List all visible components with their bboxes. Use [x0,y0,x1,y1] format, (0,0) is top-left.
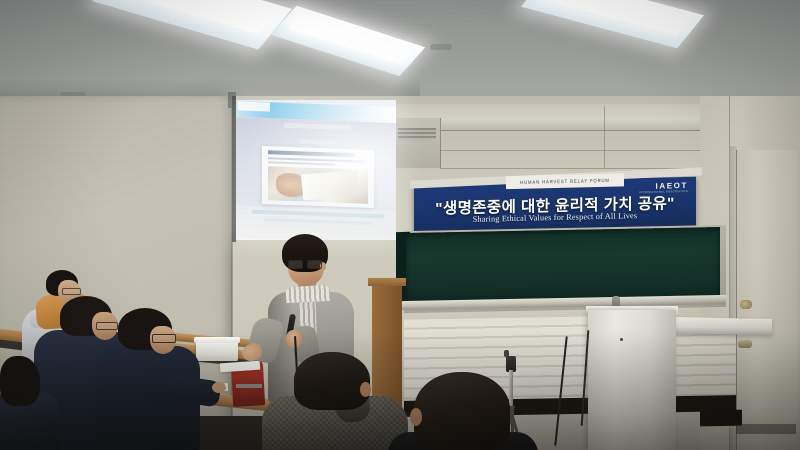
banner-forum-tab-text: HUMAN HARVEST RELAY FORUM [520,177,610,185]
attendee-tweed-ear [360,382,371,397]
podium-side-shelf [672,317,772,335]
projected-card-subtitle-2 [268,161,335,165]
door-bottom-shadow [736,424,796,434]
wall-vertical-seam-1 [604,106,605,168]
chalkboard [406,227,720,303]
projected-content-card [262,146,374,208]
lecture-hall-photo: HUMAN HARVEST RELAY FORUM IAEOT INTERNAT… [0,0,800,450]
attendee-front-hair [414,372,510,450]
projection-screen [236,100,396,240]
banner-forum-tab: HUMAN HARVEST RELAY FORUM [506,173,624,189]
student-navy-1-glasses-icon [96,322,118,330]
door-deadbolt-icon[interactable] [740,300,752,309]
ceiling-vent-2 [430,44,452,50]
presenter-glasses-icon [288,260,322,267]
soffit-box [392,118,441,168]
white-storage-box-lid [194,337,240,343]
projected-photo-paper [301,170,359,200]
av-podium[interactable] [588,310,676,450]
attendee-far-left-hair [0,356,40,406]
podium-indicator-dot [620,338,623,341]
door-lower-lock-icon[interactable] [738,340,752,348]
attendee-front-ear [410,408,422,426]
air-vent-grill-icon [398,128,436,140]
projected-card-title [268,150,355,157]
presenter-shirt-collar [286,285,331,303]
chair-red-center-bar [236,384,262,388]
lectern-top [368,278,406,286]
attendee-tweed-hair [294,352,370,410]
student-scarf-glasses-icon [62,288,81,295]
projected-card-photo [268,166,368,203]
projected-browser-tab [238,101,270,111]
student-navy-2-glasses-icon [152,334,176,343]
screen-lower-white [236,205,396,240]
student-navy-2-hand [212,382,226,393]
